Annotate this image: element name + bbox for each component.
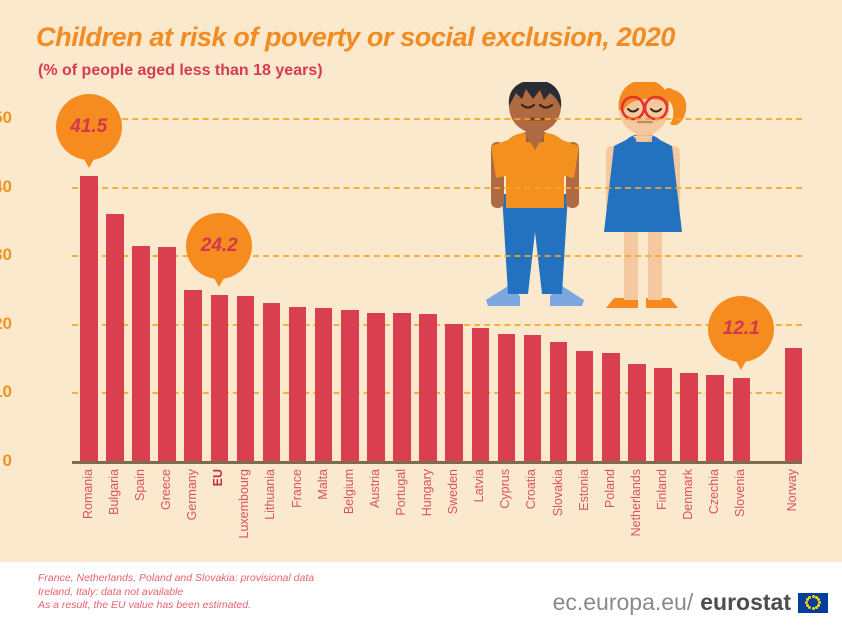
x-axis-label-estonia: Estonia — [578, 469, 591, 511]
x-axis-label-netherlands: Netherlands — [630, 469, 643, 536]
y-axis-tick: 20 — [0, 314, 12, 334]
x-axis-label-czechia: Czechia — [708, 469, 721, 514]
callout-disc: 12.1 — [708, 296, 774, 362]
callout-eu: 24.2 — [186, 213, 252, 279]
x-axis-label-cyprus: Cyprus — [499, 469, 512, 509]
callout-slovenia: 12.1 — [708, 296, 774, 362]
bar-estonia[interactable] — [576, 351, 594, 461]
callout-tail — [80, 152, 98, 168]
x-axis-label-spain: Spain — [134, 469, 147, 501]
bar-slovenia[interactable] — [733, 378, 751, 461]
brand-name: eurostat — [700, 589, 791, 616]
callout-disc: 41.5 — [56, 94, 122, 160]
eurostat-brand[interactable]: ec.europa.eu/eurostat — [553, 589, 828, 616]
bar-sweden[interactable] — [445, 324, 463, 461]
bar-luxembourg[interactable] — [237, 296, 255, 461]
x-axis-label-germany: Germany — [186, 469, 199, 520]
bar-chart: 01020304050 RomaniaBulgariaSpainGreeceGe… — [80, 118, 802, 461]
callout-romania: 41.5 — [56, 94, 122, 160]
bar-germany[interactable] — [184, 290, 202, 462]
x-axis-label-bulgaria: Bulgaria — [108, 469, 121, 515]
gridline — [72, 187, 802, 189]
x-axis-label-france: France — [291, 469, 304, 508]
callout-value: 41.5 — [70, 116, 107, 138]
footnotes: France, Netherlands, Poland and Slovakia… — [38, 572, 314, 613]
y-axis-tick: 30 — [0, 245, 12, 265]
bar-malta[interactable] — [315, 308, 333, 461]
x-axis-label-latvia: Latvia — [473, 469, 486, 502]
footnote-line: France, Netherlands, Poland and Slovakia… — [38, 572, 314, 586]
bar-slovakia[interactable] — [550, 342, 568, 461]
x-axis-label-sweden: Sweden — [447, 469, 460, 514]
bar-belgium[interactable] — [341, 310, 359, 461]
brand-url-prefix: ec.europa.eu/ — [553, 589, 694, 616]
gridline — [72, 324, 802, 326]
page-subtitle: (% of people aged less than 18 years) — [38, 62, 323, 80]
x-axis-label-greece: Greece — [160, 469, 173, 510]
bar-eu[interactable] — [211, 295, 229, 461]
y-axis-tick: 10 — [0, 382, 12, 402]
bar-czechia[interactable] — [706, 375, 724, 461]
bar-hungary[interactable] — [419, 314, 437, 461]
infographic-canvas: Children at risk of poverty or social ex… — [0, 0, 842, 625]
bar-finland[interactable] — [654, 368, 672, 461]
x-axis-label-hungary: Hungary — [421, 469, 434, 516]
x-axis-label-portugal: Portugal — [395, 469, 408, 516]
x-axis-label-eu: EU — [212, 469, 225, 486]
gridline — [72, 255, 802, 257]
bar-greece[interactable] — [158, 247, 176, 461]
footnote-line: As a result, the EU value has been estim… — [38, 599, 314, 613]
bar-austria[interactable] — [367, 313, 385, 461]
bar-norway[interactable] — [785, 348, 803, 461]
bar-croatia[interactable] — [524, 335, 542, 461]
bar-netherlands[interactable] — [628, 364, 646, 461]
bar-denmark[interactable] — [680, 373, 698, 461]
x-axis-label-denmark: Denmark — [682, 469, 695, 520]
x-axis-baseline — [72, 461, 802, 464]
x-axis-label-slovakia: Slovakia — [552, 469, 565, 516]
x-axis-label-austria: Austria — [369, 469, 382, 508]
bar-cyprus[interactable] — [498, 334, 516, 461]
bar-france[interactable] — [289, 307, 307, 461]
callout-value: 12.1 — [723, 318, 760, 340]
x-axis-label-romania: Romania — [82, 469, 95, 519]
x-axis-label-malta: Malta — [317, 469, 330, 500]
callout-tail — [210, 271, 228, 287]
callout-tail — [732, 354, 750, 370]
bar-poland[interactable] — [602, 353, 620, 461]
y-axis-tick: 0 — [0, 451, 12, 471]
gridline — [72, 118, 802, 120]
page-title: Children at risk of poverty or social ex… — [36, 22, 675, 53]
bar-bulgaria[interactable] — [106, 214, 124, 461]
x-axis-label-slovenia: Slovenia — [734, 469, 747, 517]
bar-romania[interactable] — [80, 176, 98, 461]
callout-value: 24.2 — [201, 235, 238, 257]
bar-spain[interactable] — [132, 246, 150, 461]
x-axis-label-belgium: Belgium — [343, 469, 356, 514]
x-axis-label-luxembourg: Luxembourg — [238, 469, 251, 539]
bar-portugal[interactable] — [393, 313, 411, 461]
callout-disc: 24.2 — [186, 213, 252, 279]
bar-lithuania[interactable] — [263, 303, 281, 461]
x-axis-label-norway: Norway — [786, 469, 799, 511]
bar-latvia[interactable] — [472, 328, 490, 461]
footnote-line: Ireland, Italy: data not available — [38, 586, 314, 600]
y-axis-tick: 40 — [0, 177, 12, 197]
x-axis-label-finland: Finland — [656, 469, 669, 510]
eu-flag-icon — [798, 593, 828, 613]
x-axis-label-lithuania: Lithuania — [264, 469, 277, 520]
x-axis-label-poland: Poland — [604, 469, 617, 508]
x-axis-label-croatia: Croatia — [525, 469, 538, 509]
y-axis-tick: 50 — [0, 108, 12, 128]
